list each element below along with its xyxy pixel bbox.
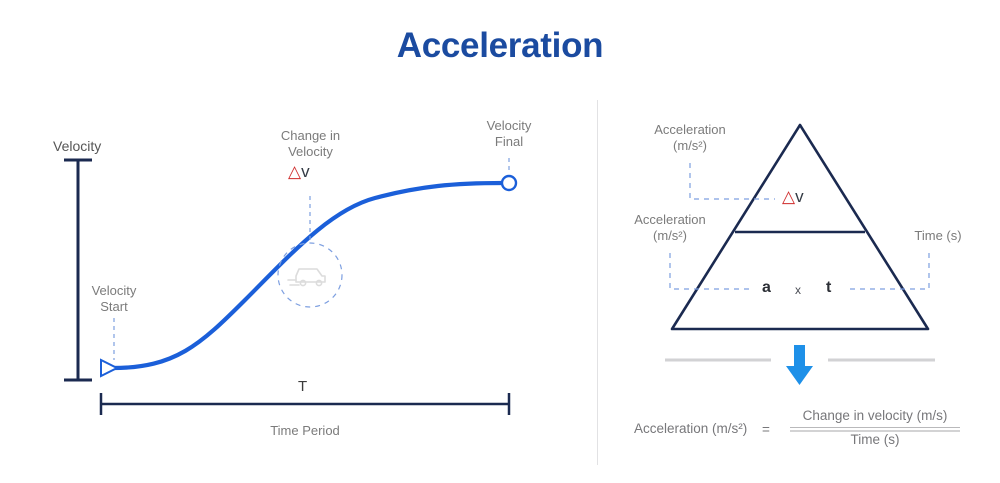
y-axis-label: Velocity xyxy=(53,138,101,154)
velocity-final-label: Velocity Final xyxy=(459,118,559,150)
delta-v-triangle: △v xyxy=(782,188,804,205)
down-arrow-icon xyxy=(786,345,813,385)
formula-numerator: Change in velocity (m/s) xyxy=(790,408,960,423)
formula-denominator: Time (s) xyxy=(790,432,960,447)
callout-time-right: Time (s) xyxy=(903,228,973,244)
delta-variable: v xyxy=(301,162,310,181)
triangle-cell-t: t xyxy=(826,279,831,297)
acceleration-top-leader xyxy=(690,163,775,199)
time-axis xyxy=(101,393,509,415)
velocity-curve xyxy=(113,183,503,368)
triangle-cell-multiply: x xyxy=(795,283,801,297)
velocity-start-marker xyxy=(101,360,117,376)
highlight-circle xyxy=(278,243,342,307)
formula-fraction-bar-visual xyxy=(790,427,960,428)
callout-acceleration-left: Acceleration (m/s²) xyxy=(616,212,724,244)
change-in-velocity-label: Change in Velocity xyxy=(258,128,363,160)
triangle-cell-a: a xyxy=(762,279,771,297)
car-icon xyxy=(288,269,325,286)
time-axis-symbol: T xyxy=(298,378,307,395)
velocity-start-label: Velocity Start xyxy=(64,283,164,315)
formula-fraction: Change in velocity (m/s) Time (s) xyxy=(790,408,960,447)
delta-triangle-icon-2: △ xyxy=(782,187,795,206)
delta-variable-2: v xyxy=(795,187,804,206)
callout-acceleration-top: Acceleration (m/s²) xyxy=(636,122,744,154)
delta-v-chart: △v xyxy=(288,163,310,180)
acceleration-left-leader xyxy=(670,253,752,289)
formula-left-term: Acceleration (m/s²) xyxy=(634,421,747,436)
velocity-axis xyxy=(64,160,92,380)
time-right-leader xyxy=(845,253,929,289)
time-period-label: Time Period xyxy=(255,423,355,439)
formula-equals: = xyxy=(762,422,770,437)
velocity-final-marker xyxy=(502,176,516,190)
delta-triangle-icon: △ xyxy=(288,162,301,181)
infographic-canvas: Acceleration xyxy=(0,0,1000,483)
